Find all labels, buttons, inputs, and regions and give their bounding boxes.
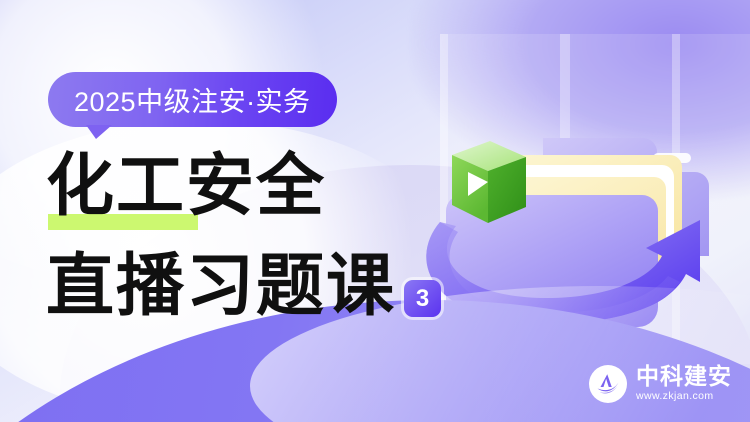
- brand-url: www.zkjan.com: [636, 390, 732, 404]
- zkjan-logo-icon: [589, 365, 627, 403]
- headline-line-1: 化工安全: [46, 150, 326, 222]
- badge-label: 2025中级注安·实务: [74, 80, 311, 119]
- brand-logo-text: 中科建安 www.zkjan.com: [636, 364, 732, 404]
- headline-group: 化工安全 直播习题课 3: [46, 150, 476, 329]
- brand-name: 中科建安: [636, 364, 732, 388]
- course-category-badge: 2025中级注安·实务: [48, 72, 337, 127]
- headline-line-2: 直播习题课: [46, 230, 396, 329]
- course-promo-banner: 2025中级注安·实务 化工安全 直播习题课 3 中科建安 www.zkjan.…: [0, 0, 750, 422]
- badge-pill: 2025中级注安·实务: [48, 72, 337, 127]
- badge-tail-icon: [86, 125, 112, 139]
- headline-line-2-row: 直播习题课 3: [46, 230, 476, 329]
- brand-logo[interactable]: 中科建安 www.zkjan.com: [589, 364, 732, 404]
- headline-line-1-row: 化工安全: [46, 150, 476, 222]
- episode-number-badge: 3: [404, 280, 441, 317]
